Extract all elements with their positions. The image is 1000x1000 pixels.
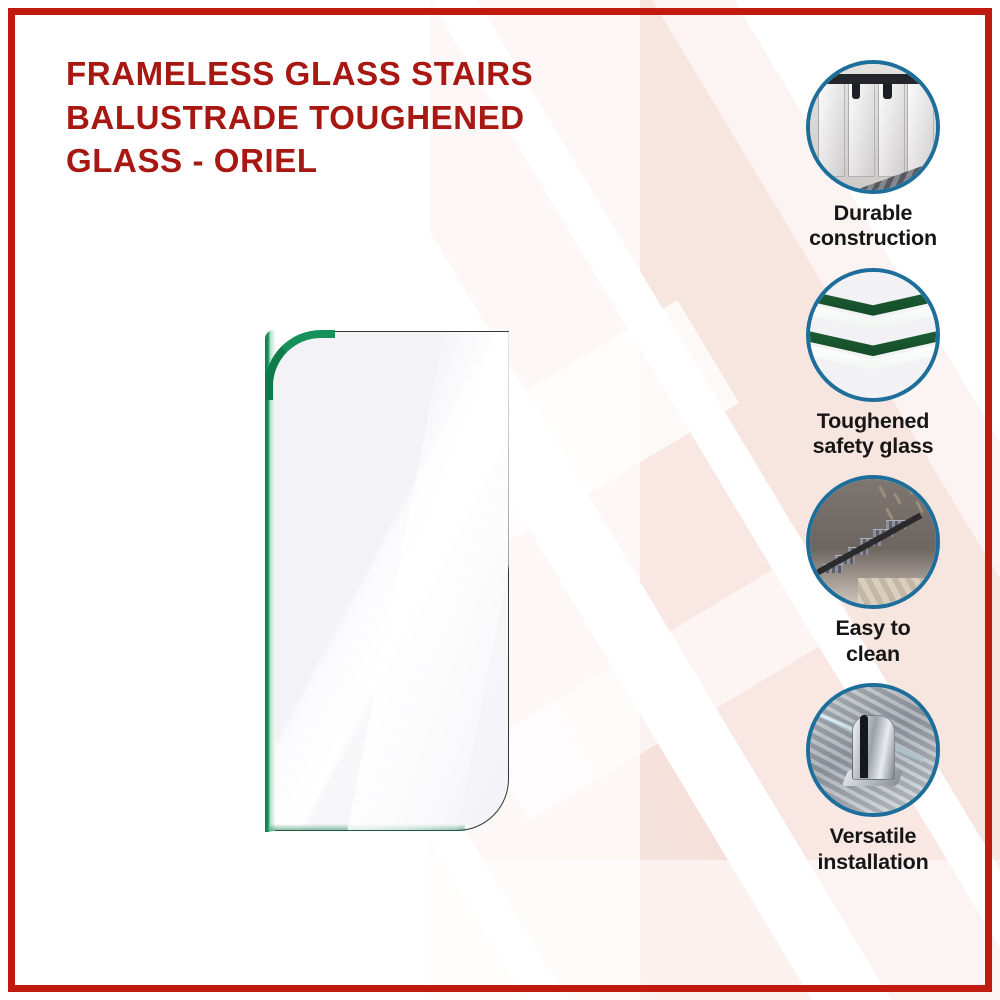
laminated-glass-layers-art [810, 272, 936, 398]
glass-edge-highlight [272, 331, 275, 831]
glass-bottom-bevel [270, 824, 465, 831]
title-line-3: GLASS - ORIEL [66, 139, 626, 183]
feature-label-line-2: clean [768, 642, 978, 667]
feature-label: Toughened safety glass [768, 409, 978, 460]
feature-label-line-1: Easy to [768, 616, 978, 641]
feature-label-line-2: installation [768, 850, 978, 875]
feature-label-line-2: construction [768, 226, 978, 251]
feature-badge-list: Durable construction Toughened safety gl… [768, 60, 978, 891]
page-title: FRAMELESS GLASS STAIRS BALUSTRADE TOUGHE… [66, 52, 626, 183]
glass-panel-surface [268, 331, 509, 831]
feature-label-line-1: Toughened [768, 409, 978, 434]
toughened-safety-glass-icon [806, 268, 940, 402]
feature-label: Versatile installation [768, 824, 978, 875]
glass-panels-with-clamps-art [810, 64, 936, 190]
title-line-2: BALUSTRADE TOUGHENED [66, 96, 626, 140]
title-line-1: FRAMELESS GLASS STAIRS [66, 52, 626, 96]
feature-label: Easy to clean [768, 616, 978, 667]
product-image-glass-panel [262, 326, 510, 834]
easy-to-clean-icon [806, 475, 940, 609]
product-banner: FRAMELESS GLASS STAIRS BALUSTRADE TOUGHE… [0, 0, 1000, 1000]
staircase-balustrade-art [810, 479, 936, 605]
feature-durable-construction: Durable construction [768, 60, 978, 252]
feature-easy-to-clean: Easy to clean [768, 475, 978, 667]
durable-construction-icon [806, 60, 940, 194]
feature-versatile-installation: Versatile installation [768, 683, 978, 875]
feature-label-line-1: Versatile [768, 824, 978, 849]
versatile-installation-icon [806, 683, 940, 817]
glass-edge-corner-curve [265, 330, 335, 400]
chrome-glass-clamp-art [810, 687, 936, 813]
feature-label: Durable construction [768, 201, 978, 252]
feature-label-line-1: Durable [768, 201, 978, 226]
feature-label-line-2: safety glass [768, 434, 978, 459]
feature-toughened-safety-glass: Toughened safety glass [768, 268, 978, 460]
